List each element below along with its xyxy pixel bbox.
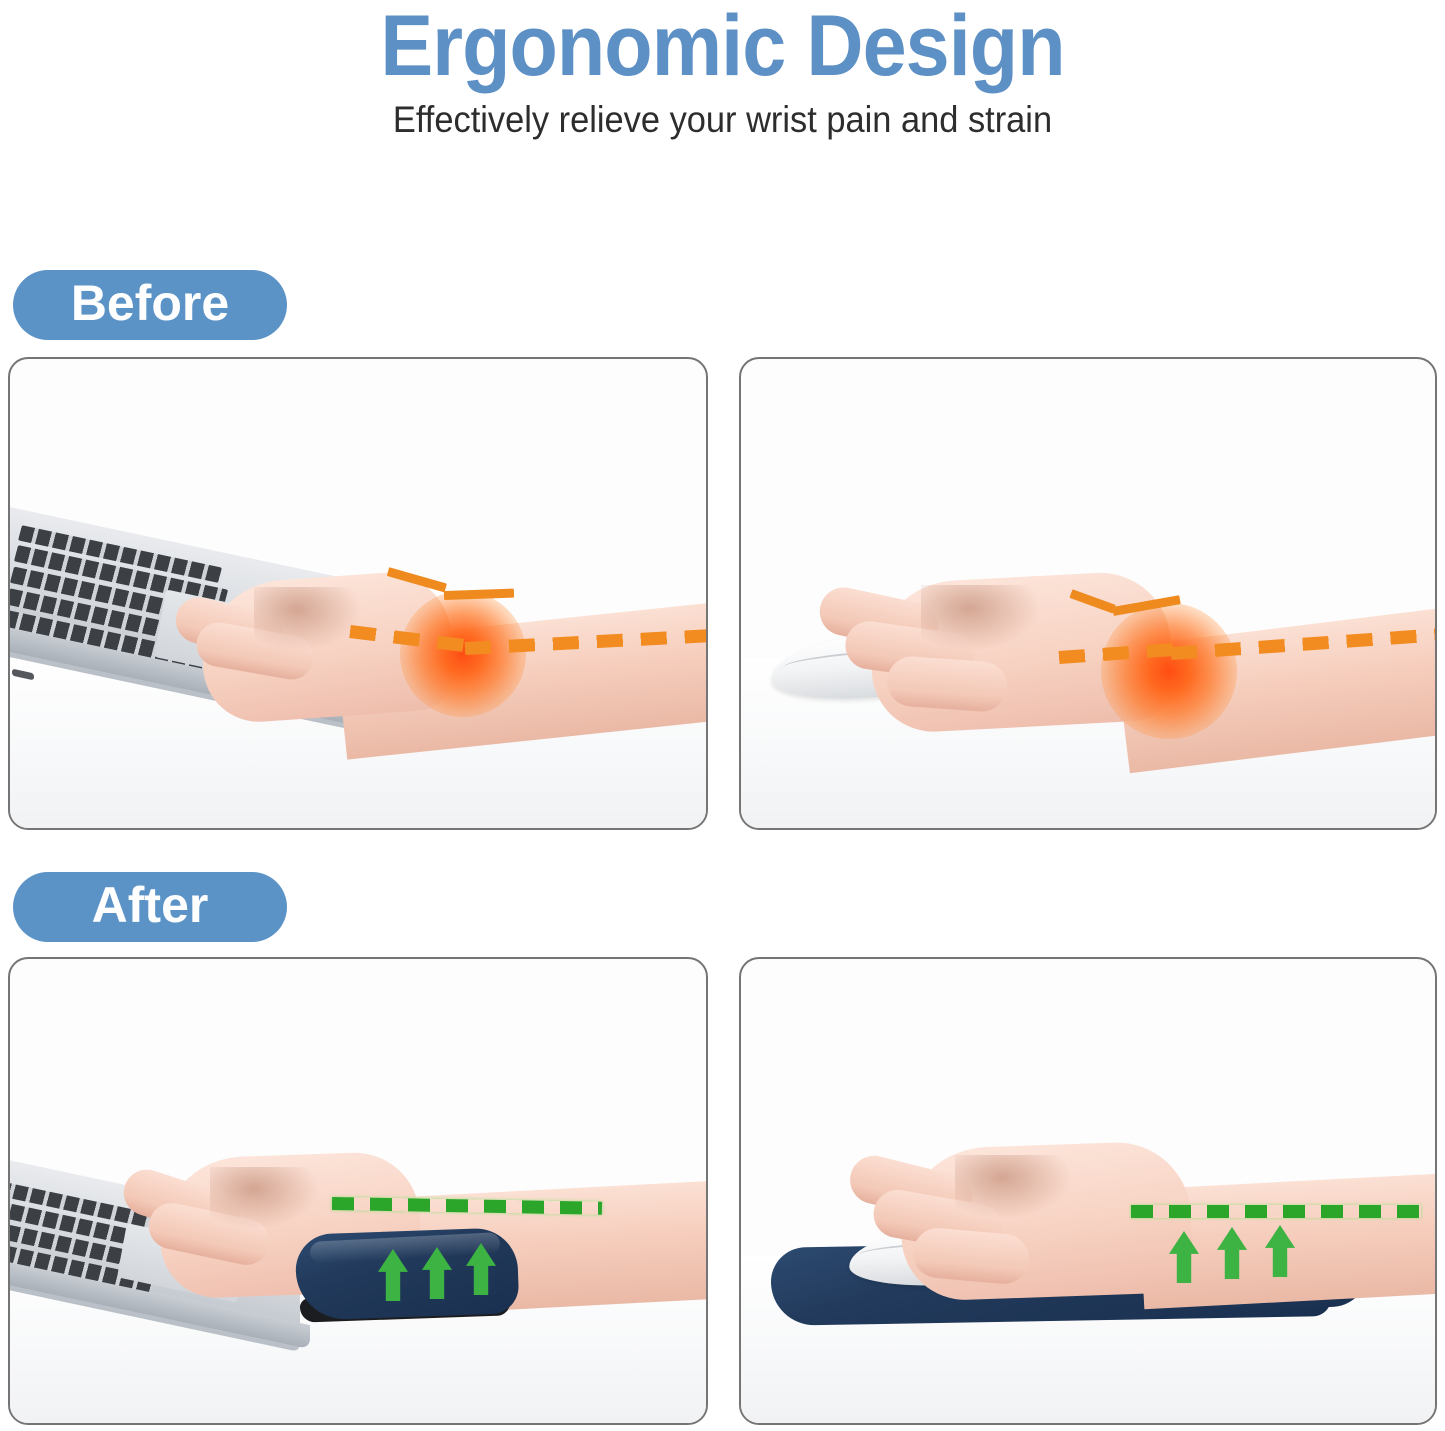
scene-before-mouse — [741, 359, 1435, 828]
wrist-angle-marker — [388, 567, 528, 607]
panel-after-mouse — [739, 957, 1437, 1425]
scene-after-laptop — [10, 959, 706, 1423]
angle-segment — [1112, 595, 1181, 616]
knuckle-shading — [254, 587, 362, 651]
angle-segment — [1069, 589, 1115, 613]
pain-hotspot — [400, 591, 526, 717]
knuckle-shading — [955, 1155, 1073, 1219]
section-badge-after: After — [13, 872, 287, 942]
thumb — [885, 655, 1008, 713]
page-title: Ergonomic Design — [58, 0, 1387, 90]
scene-after-mouse — [741, 959, 1435, 1423]
angle-segment — [444, 589, 514, 600]
knuckle-shading — [921, 585, 1041, 651]
panel-before-mouse — [739, 357, 1437, 830]
knuckle-shading — [210, 1167, 320, 1229]
page-subtitle: Effectively relieve your wrist pain and … — [51, 90, 1395, 140]
scene-before-laptop — [10, 359, 706, 828]
panel-after-laptop — [8, 957, 708, 1425]
section-badge-before: Before — [13, 270, 287, 340]
header: Ergonomic Design Effectively relieve you… — [0, 0, 1445, 140]
relief-dashed-line — [1131, 1205, 1421, 1218]
panel-before-laptop — [8, 357, 708, 830]
wrist-angle-marker — [1071, 589, 1211, 629]
angle-segment — [387, 567, 447, 592]
